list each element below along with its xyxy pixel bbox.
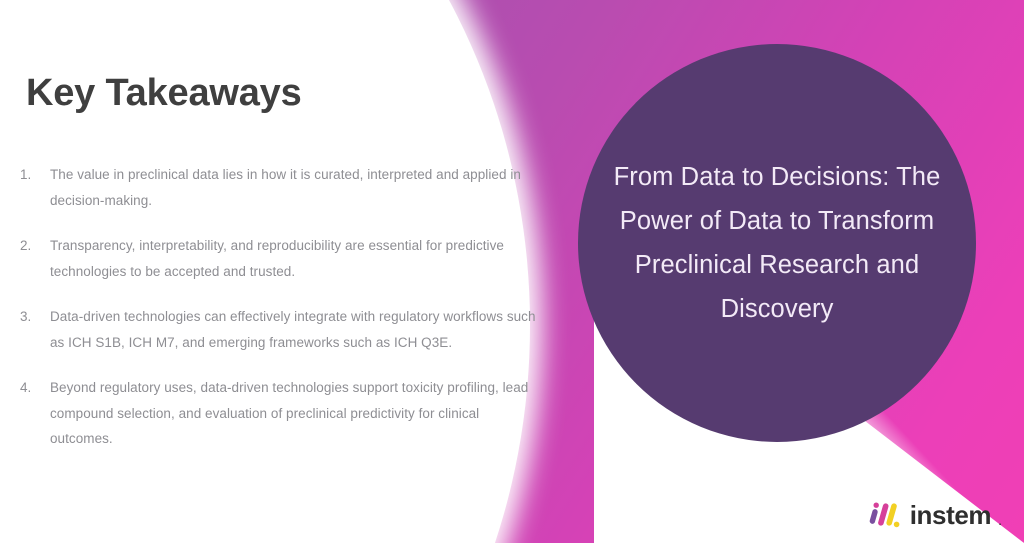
list-item-text: Beyond regulatory uses, data-driven tech… (50, 375, 540, 452)
list-item-text: Data-driven technologies can effectively… (50, 304, 540, 355)
list-item-number: 3. (20, 304, 50, 330)
list-item: 3. Data-driven technologies can effectiv… (20, 304, 540, 355)
logo-text: instem (910, 500, 991, 531)
left-content-area: Key Takeaways 1. The value in preclinica… (0, 0, 580, 543)
list-item: 2. Transparency, interpretability, and r… (20, 233, 540, 284)
list-item-number: 1. (20, 162, 50, 188)
list-item-number: 4. (20, 375, 50, 401)
slide: From Data to Decisions: The Power of Dat… (0, 0, 1024, 543)
list-item: 4. Beyond regulatory uses, data-driven t… (20, 375, 540, 452)
list-item-number: 2. (20, 233, 50, 259)
dark-purple-circle: From Data to Decisions: The Power of Dat… (578, 44, 976, 442)
list-item: 1. The value in preclinical data lies in… (20, 162, 540, 213)
list-item-text: The value in preclinical data lies in ho… (50, 162, 540, 213)
instem-slashes-icon (869, 501, 903, 531)
list-item-text: Transparency, interpretability, and repr… (50, 233, 540, 284)
instem-logo: instem . (869, 500, 1002, 531)
page-title: Key Takeaways (26, 72, 302, 115)
takeaways-list: 1. The value in preclinical data lies in… (20, 162, 540, 472)
logo-trailing-mark: . (998, 512, 1002, 531)
circle-heading: From Data to Decisions: The Power of Dat… (612, 155, 942, 331)
